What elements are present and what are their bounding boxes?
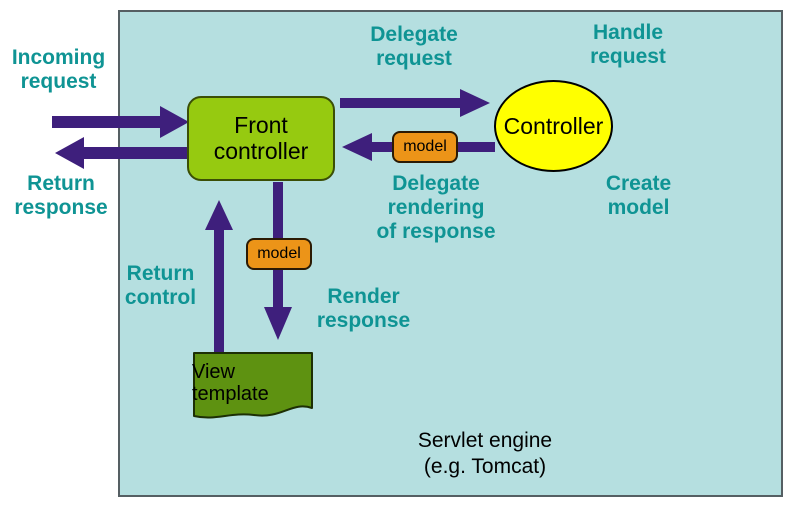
model-chip-front-to-view[interactable]: model [246,238,312,270]
arrow-return-response [52,136,192,170]
diagram-canvas: Front controller Controller View templat… [0,0,800,513]
caption-return-response: Return response [0,172,122,220]
caption-delegate-rendering: Delegate rendering of response [358,172,514,244]
caption-return-control: Return control [110,262,211,310]
model-chip-label: model [257,245,301,263]
caption-handle-request: Handle request [573,21,683,69]
arrow-incoming-request [52,105,192,139]
controller-label: Controller [504,113,604,140]
node-view-template[interactable]: View template [192,351,314,421]
arrow-delegate-request [340,88,492,118]
node-front-controller[interactable]: Front controller [187,96,335,181]
caption-render-response: Render response [298,285,429,333]
caption-delegate-request: Delegate request [355,23,473,71]
model-chip-label: model [403,138,447,156]
caption-incoming-request: Incoming request [0,46,117,94]
view-template-label: View template [192,354,314,412]
servlet-engine-label: Servlet engine (e.g. Tomcat) [350,428,620,479]
node-controller[interactable]: Controller [494,80,613,172]
caption-create-model: Create model [592,172,685,220]
front-controller-label: Front controller [214,113,309,165]
model-chip-controller-to-front[interactable]: model [392,131,458,163]
